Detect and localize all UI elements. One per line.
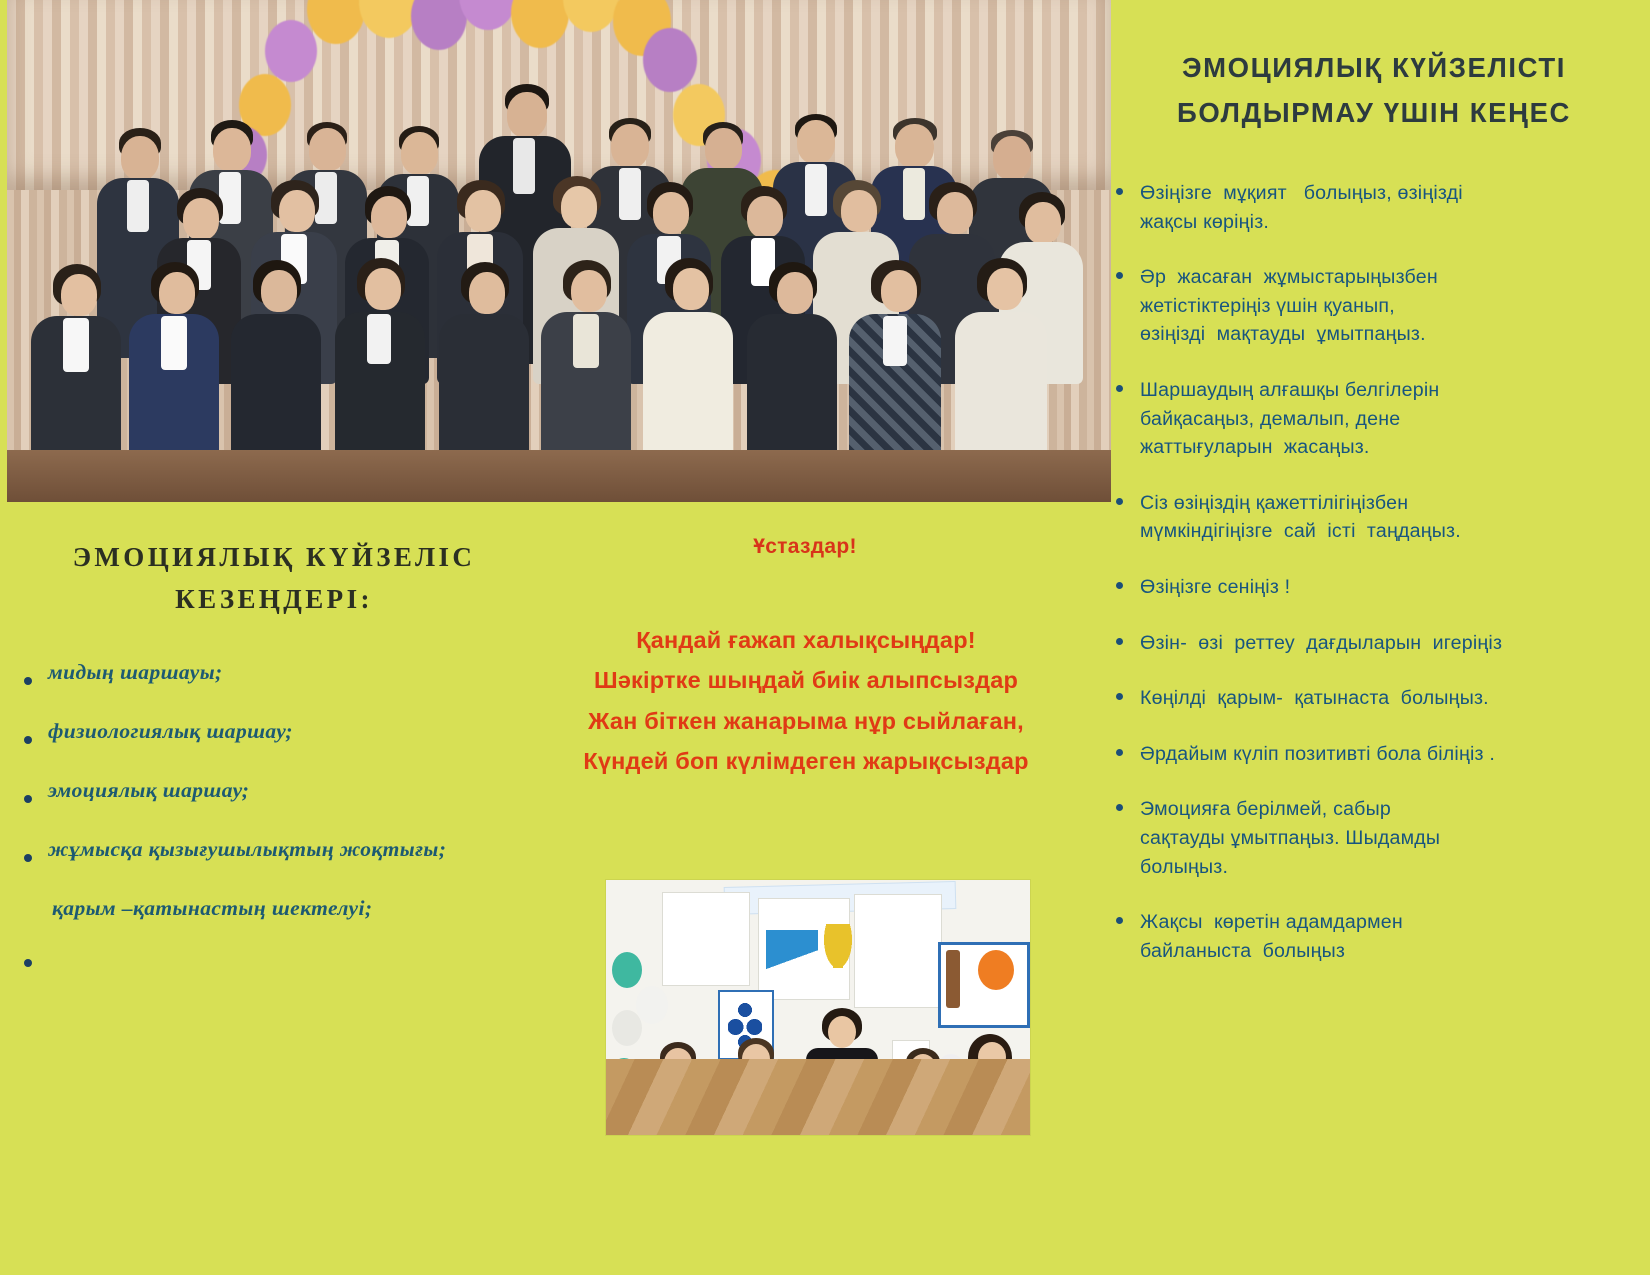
bird-emblem-icon	[820, 924, 856, 976]
stages-item: эмоциялық шаршау;	[8, 778, 538, 803]
advice-line: Көңілді қарым- қатынаста болыңыз.	[1140, 684, 1650, 713]
stages-title-line1: ЭМОЦИЯЛЫҚ КҮЙЗЕЛІС	[14, 537, 534, 579]
bullet-dot-icon	[24, 959, 32, 967]
bullet-dot-icon	[1116, 498, 1123, 505]
stages-title: ЭМОЦИЯЛЫҚ КҮЙЗЕЛІС КЕЗЕҢДЕРІ:	[14, 537, 534, 621]
bullet-dot-icon	[24, 854, 32, 862]
group-photo	[7, 0, 1111, 502]
stages-title-line2: КЕЗЕҢДЕРІ:	[14, 579, 534, 621]
stages-item: мидың шаршауы;	[8, 660, 538, 685]
advice-line: байланыста болыңыз	[1140, 937, 1650, 966]
advice-line: Өзін- өзі реттеу дағдыларын игеріңіз	[1140, 629, 1650, 658]
poem-line: Шәкіртке шыңдай биік алыпсыздар	[536, 660, 1076, 700]
advice-title-line2: БОЛДЫРМАУ ҮШІН КЕҢЕС	[1104, 91, 1644, 136]
advice-item: Эмоцияға берілмей, сабыр сақтауды ұмытпа…	[1096, 795, 1650, 881]
advice-title-line1: ЭМОЦИЯЛЫҚ КҮЙЗЕЛІСТІ	[1104, 46, 1644, 91]
stages-item-label: эмоциялық шаршау;	[48, 778, 249, 802]
advice-line: жетістіктеріңіз үшін қуанып,	[1140, 292, 1650, 321]
advice-line: Өзіңізге сеніңіз !	[1140, 573, 1650, 602]
advice-item: Жақсы көретін адамдармен байланыста болы…	[1096, 908, 1650, 965]
blue-wave-icon	[766, 930, 818, 998]
bullet-dot-icon	[24, 795, 32, 803]
poem-line: Қандай ғажап халықсыңдар!	[536, 620, 1076, 660]
bullet-dot-icon	[1116, 582, 1123, 589]
bullet-dot-icon	[1116, 749, 1123, 756]
advice-item: Өзіңізге сеніңіз !	[1096, 573, 1650, 602]
advice-column: ЭМОЦИЯЛЫҚ КҮЙЗЕЛІСТІ БОЛДЫРМАУ ҮШІН КЕҢЕ…	[1096, 46, 1650, 992]
advice-line: байқасаңыз, демалып, дене	[1140, 405, 1650, 434]
advice-line: сақтауды ұмытпаңыз. Шыдамды	[1140, 824, 1650, 853]
stages-item-label: физиологиялық шаршау;	[48, 719, 293, 743]
balloon	[612, 1010, 642, 1046]
stage-floor	[7, 450, 1111, 502]
advice-item: Өзін- өзі реттеу дағдыларын игеріңіз	[1096, 629, 1650, 658]
advice-title: ЭМОЦИЯЛЫҚ КҮЙЗЕЛІСТІ БОЛДЫРМАУ ҮШІН КЕҢЕ…	[1096, 46, 1650, 135]
bullet-dot-icon	[1116, 385, 1123, 392]
stages-list: мидың шаршауы; физиологиялық шаршау; эмо…	[8, 660, 538, 965]
stages-item-label: қарым –қатынастың шектелуі;	[52, 896, 372, 920]
poem-block: Қандай ғажап халықсыңдар! Шәкіртке шыңда…	[536, 620, 1076, 782]
advice-line: болыңыз.	[1140, 853, 1650, 882]
advice-line: Әр жасаған жұмыстарыңызбен	[1140, 263, 1650, 292]
children-photo	[606, 880, 1030, 1135]
bullet-dot-icon	[1116, 804, 1123, 811]
pencil-drawing-icon	[946, 950, 960, 1008]
advice-line: жақсы көріңіз.	[1140, 208, 1650, 237]
advice-item: Көңілді қарым- қатынаста болыңыз.	[1096, 684, 1650, 713]
poster-page: ЭМОЦИЯЛЫҚ КҮЙЗЕЛІСТІ БОЛДЫРМАУ ҮШІН КЕҢЕ…	[0, 0, 1650, 1275]
advice-line: Шаршаудың алғашқы белгілерін	[1140, 376, 1650, 405]
wall-drawing	[662, 892, 750, 986]
advice-line: Сіз өзіңіздің қажеттілігіңізбен	[1140, 489, 1650, 518]
stages-item: жұмысқа қызығушылықтың жоқтығы;	[8, 837, 538, 862]
advice-line: өзіңізді мақтауды ұмытпаңыз.	[1140, 320, 1650, 349]
advice-line: мүмкіндігіңізге сай істі таңдаңыз.	[1140, 517, 1650, 546]
bullet-dot-icon	[24, 736, 32, 744]
advice-item: Әрдайым күліп позитивті бола біліңіз .	[1096, 740, 1650, 769]
advice-item: Өзіңізге мұқият болыңыз, өзіңізді жақсы …	[1096, 179, 1650, 236]
balloon	[612, 952, 642, 988]
stages-item-label: мидың шаршауы;	[48, 660, 223, 684]
poem-line: Күндей боп күлімдеген жарықсыздар	[536, 741, 1076, 781]
advice-line: Эмоцияға берілмей, сабыр	[1140, 795, 1650, 824]
advice-line: Жақсы көретін адамдармен	[1140, 908, 1650, 937]
teachers-greeting: Ұстаздар!	[540, 535, 1070, 559]
advice-item: Сіз өзіңіздің қажеттілігіңізбен мүмкінді…	[1096, 489, 1650, 546]
tree-drawing-icon	[978, 950, 1014, 990]
stages-item-label: жұмысқа қызығушылықтың жоқтығы;	[48, 837, 446, 861]
wall-drawing	[854, 894, 942, 1008]
stages-item-empty	[8, 955, 538, 965]
stages-item: қарым –қатынастың шектелуі;	[8, 896, 538, 921]
bullet-dot-icon	[1116, 693, 1123, 700]
bullet-dot-icon	[1116, 638, 1123, 645]
bullet-dot-icon	[1116, 188, 1123, 195]
advice-bullet-list: Өзіңізге мұқият болыңыз, өзіңізді жақсы …	[1096, 179, 1650, 965]
poem-line: Жан біткен жанарыма нұр сыйлаған,	[536, 701, 1076, 741]
advice-line: Өзіңізге мұқият болыңыз, өзіңізді	[1140, 179, 1650, 208]
balloon	[636, 986, 668, 1024]
stages-item: физиологиялық шаршау;	[8, 719, 538, 744]
bullet-dot-icon	[24, 677, 32, 685]
bullet-dot-icon	[1116, 917, 1123, 924]
advice-line: Әрдайым күліп позитивті бола біліңіз .	[1140, 740, 1650, 769]
advice-item: Әр жасаған жұмыстарыңызбен жетістіктерің…	[1096, 263, 1650, 349]
advice-item: Шаршаудың алғашқы белгілерін байқасаңыз,…	[1096, 376, 1650, 462]
bullet-dot-icon	[1116, 272, 1123, 279]
advice-line: жаттығуларын жасаңыз.	[1140, 433, 1650, 462]
classroom-floor	[606, 1059, 1030, 1136]
